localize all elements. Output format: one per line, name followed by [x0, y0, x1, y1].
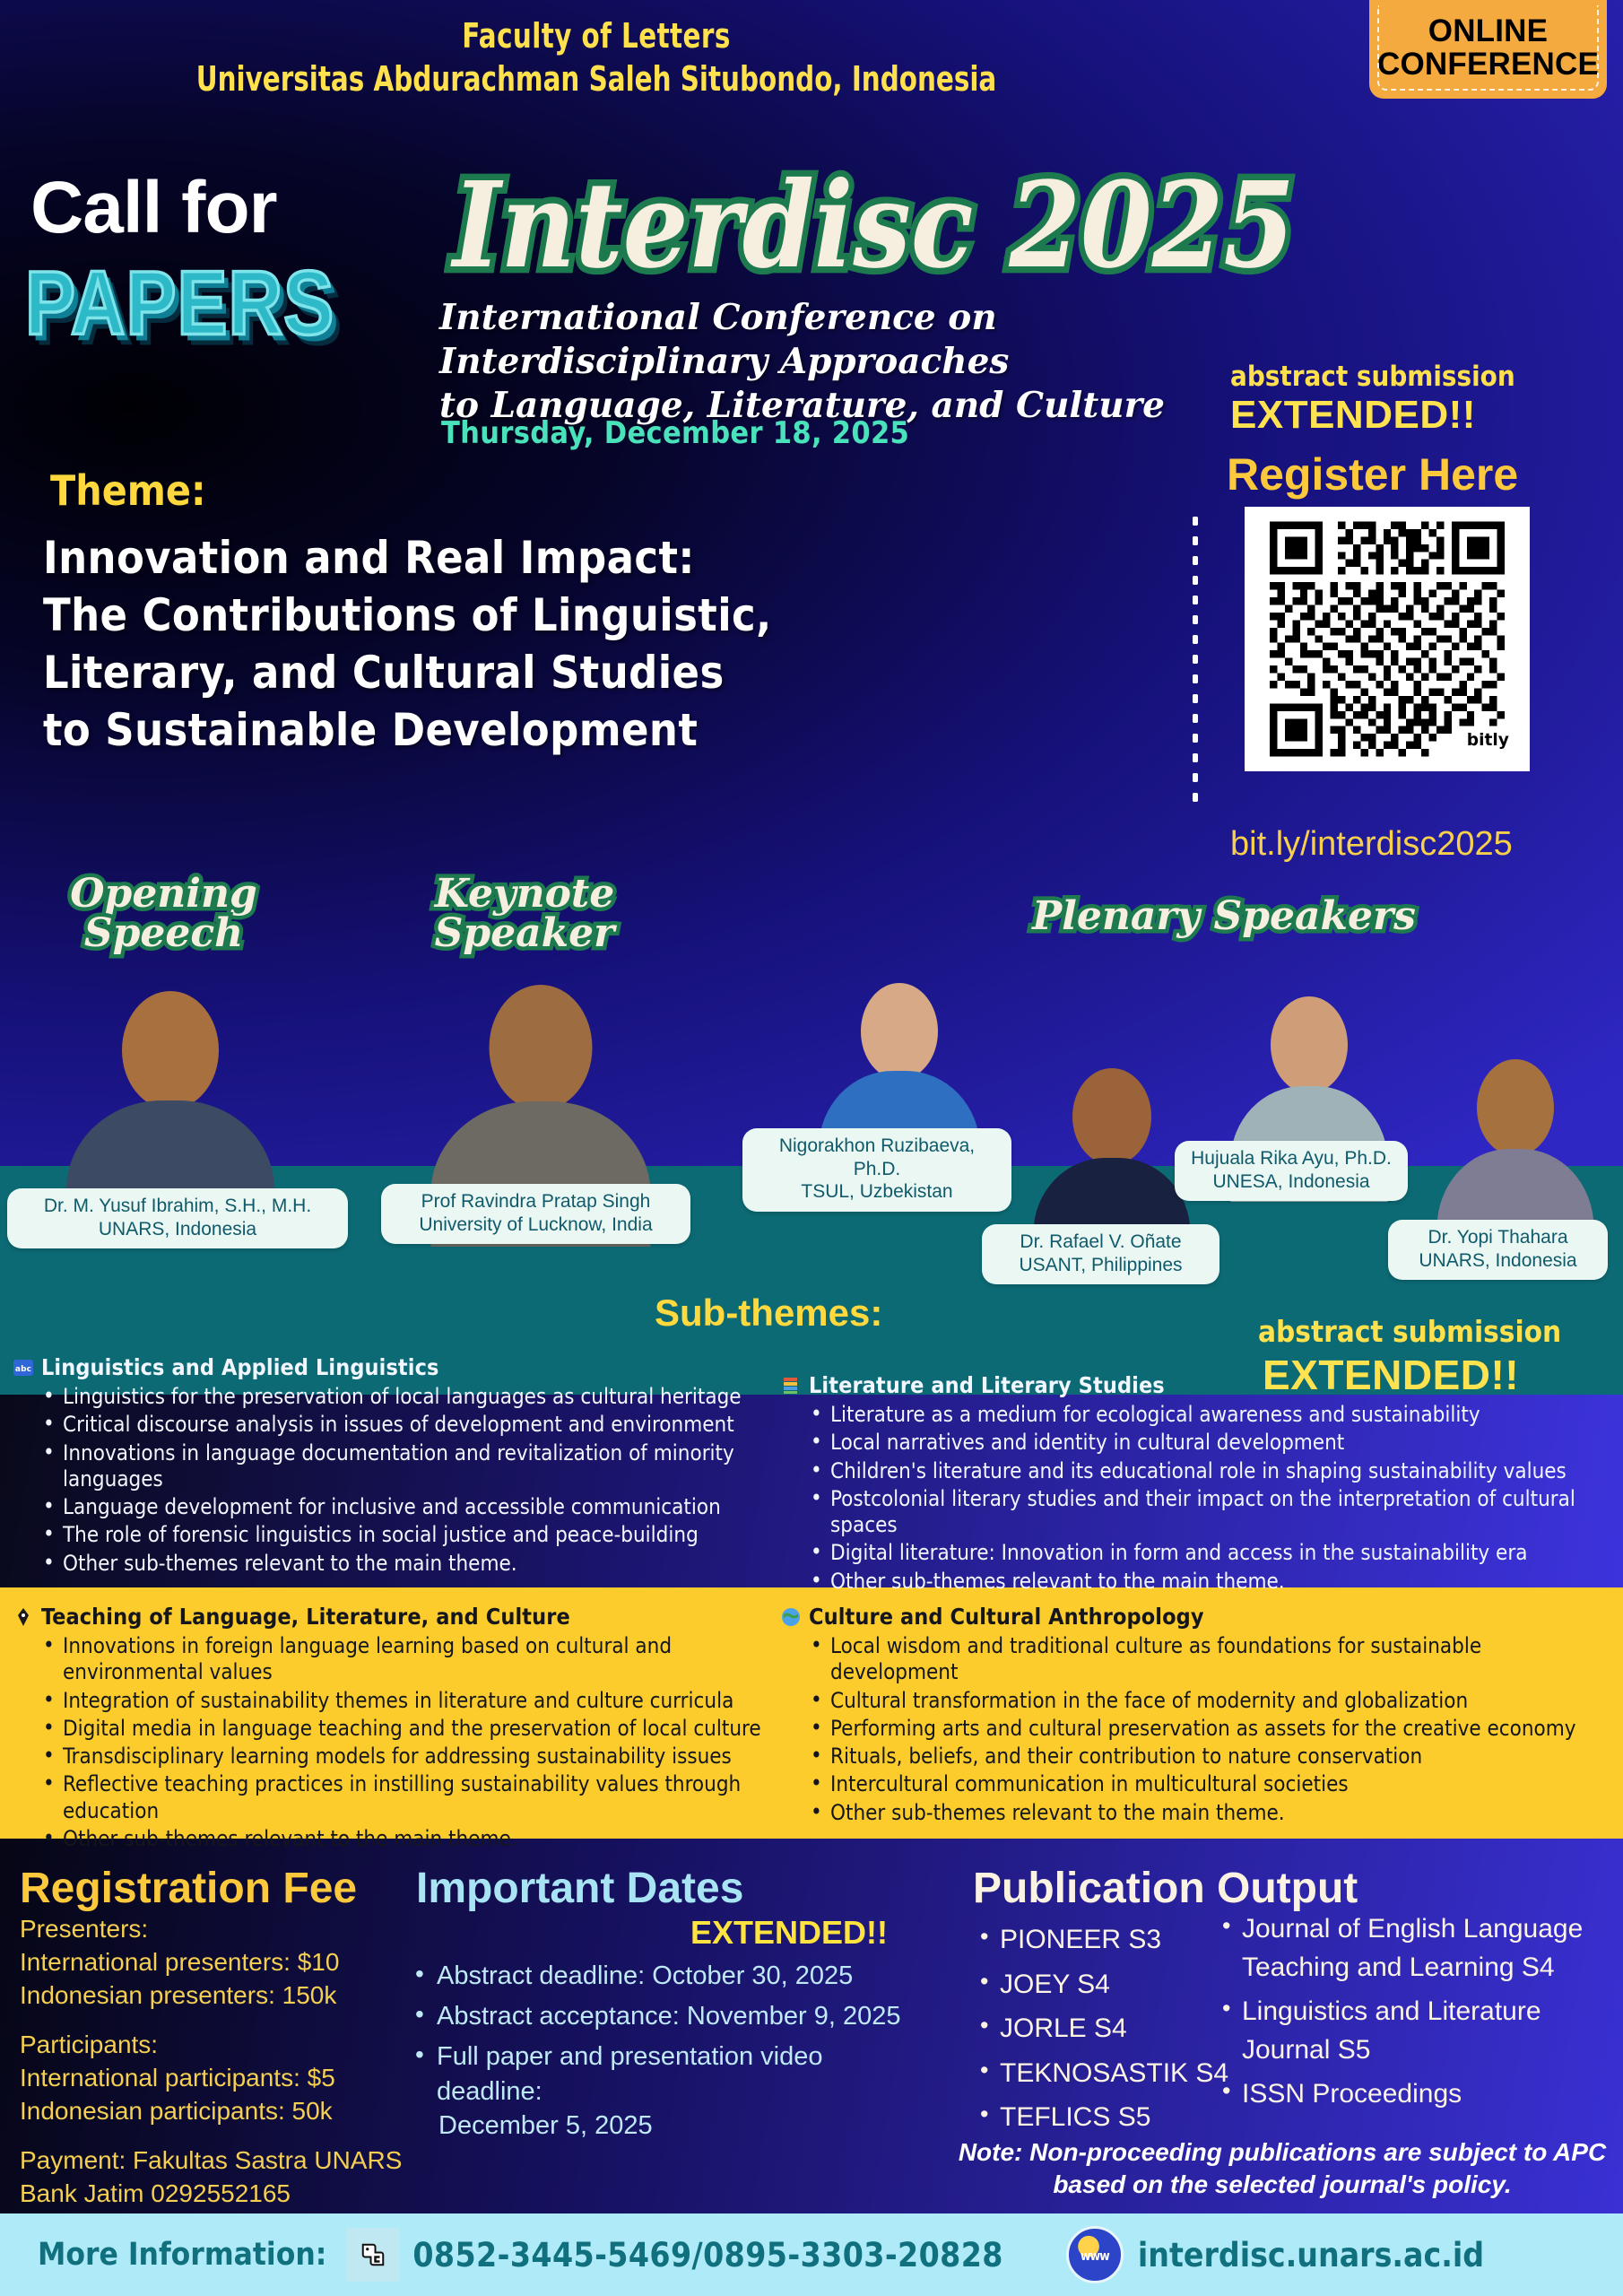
list-item: Abstract deadline: October 30, 2025 [408, 1959, 928, 1994]
participant-international-fee: International participants: $5 [20, 2062, 405, 2095]
list-item: Cultural transformation in the face of m… [811, 1688, 1614, 1714]
subtheme-heading-text: Culture and Cultural Anthropology [809, 1604, 1204, 1630]
list-item: TEFLICS S5 [973, 2099, 1242, 2137]
subtheme-heading-text: Literature and Literary Studies [809, 1372, 1165, 1398]
name-tag-plenary-2: Dr. Rafael V. Oñate USANT, Philippines [982, 1224, 1219, 1284]
date-text: Abstract acceptance: November 9, 2025 [437, 2002, 900, 2031]
list-item: Postcolonial literary studies and their … [811, 1486, 1614, 1539]
presenter-international-fee: International presenters: $10 [20, 1946, 405, 1979]
payment-line-2: Bank Jatim 0292552165 [20, 2178, 405, 2211]
avatar [1072, 1068, 1151, 1165]
theme-line-4: to Sustainable Development [43, 701, 1155, 759]
speaker-affiliation: UNARS, Indonesia [1401, 1249, 1595, 1273]
publication-note: Note: Non-proceeding publications are su… [950, 2136, 1614, 2202]
important-dates-extended: EXTENDED!! [690, 1914, 888, 1952]
subtheme-list: Linguistics for the preservation of loca… [43, 1384, 784, 1577]
dotted-divider [1193, 511, 1198, 803]
date-text: Full paper and presentation video deadli… [437, 2042, 822, 2106]
subtheme-list: Literature as a medium for ecological aw… [811, 1402, 1614, 1595]
online-badge-line-1: ONLINE [1375, 14, 1601, 48]
abc-icon: abc [13, 1357, 34, 1378]
list-item: Integration of sustainability themes in … [43, 1688, 784, 1714]
speaker-name: Dr. M. Yusuf Ibrahim, S.H., M.H. [20, 1195, 335, 1218]
list-item: JORLE S4 [973, 2010, 1242, 2048]
list-item: Other sub-themes relevant to the main th… [43, 1826, 784, 1852]
list-item: The role of forensic linguistics in soci… [43, 1522, 784, 1548]
abstract-submission-label-top: abstract submission [1230, 361, 1515, 393]
list-item: Local wisdom and traditional culture as … [811, 1633, 1614, 1686]
globe-icon [780, 1606, 802, 1628]
whatsapp-icon [346, 2228, 400, 2282]
website-url[interactable]: interdisc.unars.ac.id [1138, 2236, 1484, 2274]
payment-line-1: Payment: Fakultas Sastra UNARS [20, 2144, 405, 2178]
subtheme-list: Local wisdom and traditional culture as … [811, 1633, 1614, 1826]
qr-code[interactable]: bitly [1245, 507, 1530, 771]
theme-label: Theme: [50, 466, 206, 515]
conference-date: Thursday, December 18, 2025 [441, 415, 909, 451]
books-icon [780, 1375, 802, 1396]
speaker-name: Dr. Rafael V. Oñate [994, 1231, 1207, 1254]
list-item: Abstract acceptance: November 9, 2025 [408, 1999, 928, 2034]
short-url[interactable]: bit.ly/interdisc2025 [1230, 825, 1513, 864]
list-item: Linguistics and Literature Journal S5 [1215, 1993, 1623, 2069]
list-item: Journal of English Language Teaching and… [1215, 1910, 1623, 1987]
list-item: Language development for inclusive and a… [43, 1494, 784, 1520]
list-item: Digital media in language teaching and t… [43, 1716, 784, 1742]
event-name: Interdisc 2025 [453, 157, 1295, 295]
conference-poster: Faculty of Letters Universitas Abdurachm… [0, 0, 1623, 2296]
name-tag-plenary-3: Hujuala Rika Ayu, Ph.D. UNESA, Indonesia [1175, 1141, 1408, 1201]
list-item: Innovations in foreign language learning… [43, 1633, 784, 1686]
subtheme-heading: Literature and Literary Studies [780, 1372, 1614, 1398]
publication-list-left: PIONEER S3 JOEY S4 JORLE S4 TEKNOSASTIK … [973, 1921, 1242, 2144]
conference-subtitle-line-1: International Conference on Interdiscipl… [439, 296, 1264, 384]
list-item: Performing arts and cultural preservatio… [811, 1716, 1614, 1742]
svg-text:abc: abc [15, 1365, 31, 1374]
subtheme-heading: abc Linguistics and Applied Linguistics [13, 1354, 784, 1380]
plenary-speakers-heading: Plenary Speakers [982, 897, 1466, 936]
speaker-name: Prof Ravindra Pratap Singh [394, 1190, 678, 1213]
theme-line-3: Literary, and Cultural Studies [43, 644, 1155, 701]
faculty-heading: Faculty of Letters Universitas Abdurachm… [83, 16, 1109, 99]
speaker-name: Nigorakhon Ruzibaeva, Ph.D. [755, 1135, 999, 1180]
pen-nib-icon [13, 1606, 34, 1628]
avatar [122, 991, 219, 1109]
call-for-text: Call for [30, 166, 276, 250]
presenter-indonesian-fee: Indonesian presenters: 150k [20, 1979, 405, 2013]
subtheme-group-culture: Culture and Cultural Anthropology Local … [780, 1604, 1614, 1828]
list-item: Local narratives and identity in cultura… [811, 1430, 1614, 1456]
list-item: JOEY S4 [973, 1966, 1242, 2005]
subtheme-list: Innovations in foreign language learning… [43, 1633, 784, 1852]
list-item: Full paper and presentation video deadli… [408, 2039, 928, 2144]
speaker-affiliation: USANT, Philippines [994, 1254, 1207, 1277]
globe-www-icon: www [1066, 2226, 1124, 2283]
list-item: Critical discourse analysis in issues of… [43, 1412, 784, 1438]
speaker-affiliation: TSUL, Uzbekistan [755, 1180, 999, 1204]
opening-speech-heading: Opening Speech [49, 874, 278, 953]
subtheme-heading: Teaching of Language, Literature, and Cu… [13, 1604, 784, 1630]
list-item: TEKNOSASTIK S4 [973, 2055, 1242, 2093]
date-text-continued: December 5, 2025 [437, 2109, 928, 2144]
important-dates-list: Abstract deadline: October 30, 2025 Abst… [408, 1959, 928, 2149]
list-item: PIONEER S3 [973, 1921, 1242, 1960]
list-item: Transdisciplinary learning models for ad… [43, 1744, 784, 1770]
keynote-speaker-heading-line-2: Speaker [417, 914, 632, 953]
speaker-affiliation: UNARS, Indonesia [20, 1218, 335, 1241]
subtheme-group-linguistics: abc Linguistics and Applied Linguistics … [13, 1354, 784, 1578]
conference-subtitle: International Conference on Interdiscipl… [439, 296, 1264, 428]
keynote-speaker-heading: Keynote Speaker [417, 874, 632, 953]
registration-fee-title: Registration Fee [20, 1864, 357, 1913]
participant-indonesian-fee: Indonesian participants: 50k [20, 2095, 405, 2128]
publication-output-title: Publication Output [973, 1864, 1358, 1913]
subtheme-heading: Culture and Cultural Anthropology [780, 1604, 1614, 1630]
avatar [1271, 996, 1348, 1093]
publication-list-right: Journal of English Language Teaching and… [1215, 1910, 1623, 2120]
theme-line-2: The Contributions of Linguistic, [43, 587, 1155, 644]
date-text: Abstract deadline: October 30, 2025 [437, 1961, 853, 1990]
speaker-affiliation: University of Lucknow, India [394, 1213, 678, 1237]
avatar [861, 983, 938, 1080]
qr-code-image: bitly [1252, 514, 1523, 764]
online-conference-badge: ONLINE CONFERENCE [1369, 0, 1607, 99]
list-item: Children's literature and its educationa… [811, 1458, 1614, 1484]
footer-bar: More Information: 0852-3445-5469/0895-33… [0, 2213, 1623, 2296]
list-item: Reflective teaching practices in instill… [43, 1771, 784, 1824]
theme-line-1: Innovation and Real Impact: [43, 529, 1155, 587]
list-item: Other sub-themes relevant to the main th… [43, 1551, 784, 1577]
opening-speech-heading-line-2: Speech [49, 914, 278, 953]
speaker-name: Dr. Yopi Thahara [1401, 1226, 1595, 1249]
registration-fee-body: Presenters: International presenters: $1… [20, 1913, 405, 2211]
subtheme-heading-text: Teaching of Language, Literature, and Cu… [41, 1604, 570, 1630]
speaker-name: Hujuala Rika Ayu, Ph.D. [1187, 1147, 1395, 1170]
name-tag-plenary-1: Nigorakhon Ruzibaeva, Ph.D. TSUL, Uzbeki… [742, 1128, 1011, 1212]
list-item: Linguistics for the preservation of loca… [43, 1384, 784, 1410]
more-information-label: More Information: [38, 2237, 326, 2273]
register-here-label: Register Here [1227, 448, 1518, 500]
list-item: Other sub-themes relevant to the main th… [811, 1569, 1614, 1595]
papers-text: PAPERS [25, 251, 334, 355]
extended-label-top: EXTENDED!! [1230, 393, 1476, 438]
subtheme-group-teaching: Teaching of Language, Literature, and Cu… [13, 1604, 784, 1854]
avatar [1477, 1059, 1554, 1156]
presenters-label: Presenters: [20, 1913, 405, 1946]
name-tag-keynote: Prof Ravindra Pratap Singh University of… [381, 1184, 690, 1244]
subtheme-heading-text: Linguistics and Applied Linguistics [41, 1354, 439, 1380]
theme-text: Innovation and Real Impact: The Contribu… [43, 529, 1155, 759]
phone-numbers[interactable]: 0852-3445-5469/0895-3303-20828 [412, 2236, 1002, 2274]
avatar [490, 985, 593, 1110]
name-tag-plenary-4: Dr. Yopi Thahara UNARS, Indonesia [1388, 1220, 1608, 1280]
participants-label: Participants: [20, 2029, 405, 2062]
online-badge-line-2: CONFERENCE [1375, 48, 1601, 81]
list-item: Digital literature: Innovation in form a… [811, 1540, 1614, 1566]
list-item: Rituals, beliefs, and their contribution… [811, 1744, 1614, 1770]
list-item: ISSN Proceedings [1215, 2075, 1623, 2114]
opening-speech-heading-line-1: Opening [49, 874, 278, 914]
important-dates-title: Important Dates [416, 1864, 743, 1913]
keynote-speaker-heading-line-1: Keynote [417, 874, 632, 914]
list-item: Intercultural communication in multicult… [811, 1771, 1614, 1797]
subthemes-title: Sub-themes: [655, 1291, 882, 1335]
list-item: Literature as a medium for ecological aw… [811, 1402, 1614, 1428]
abstract-submission-label-mid: abstract submission [1258, 1314, 1561, 1349]
list-item: Innovations in language documentation an… [43, 1440, 784, 1493]
list-item: Other sub-themes relevant to the main th… [811, 1800, 1614, 1826]
faculty-line-2: Universitas Abdurachman Saleh Situbondo,… [83, 59, 1109, 99]
name-tag-opening: Dr. M. Yusuf Ibrahim, S.H., M.H. UNARS, … [7, 1188, 348, 1248]
speaker-affiliation: UNESA, Indonesia [1187, 1170, 1395, 1194]
subtheme-group-literature: Literature and Literary Studies Literatu… [780, 1372, 1614, 1596]
faculty-line-1: Faculty of Letters [83, 16, 1109, 56]
qr-brand-label: bitly [1467, 731, 1509, 750]
